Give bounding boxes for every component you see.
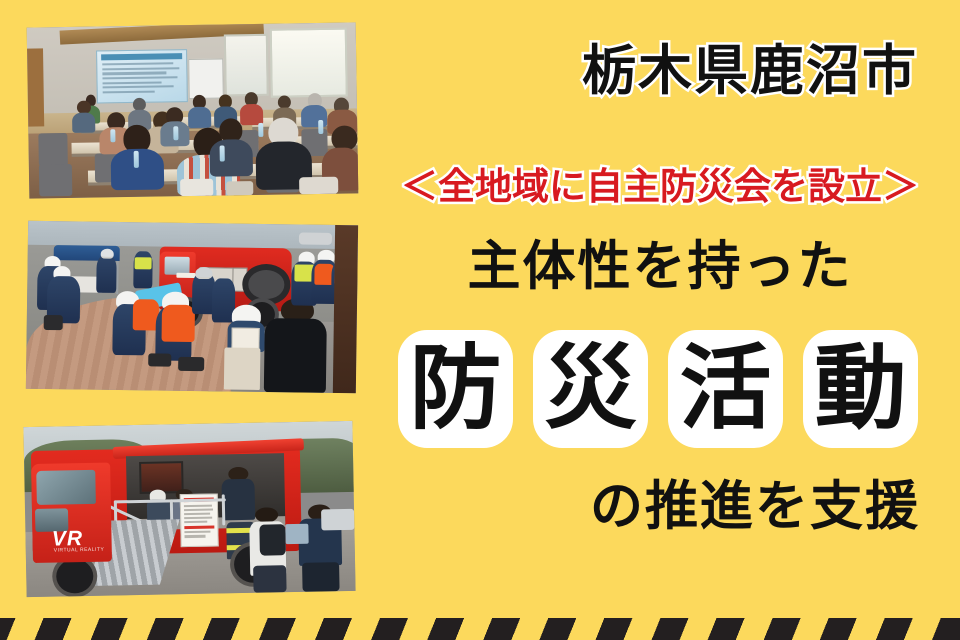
water-bottle xyxy=(173,126,178,140)
bay-monitor xyxy=(139,462,183,494)
poster-subhead xyxy=(184,526,214,529)
evacuee-pants xyxy=(224,348,261,391)
keyword-box-bou: 防 xyxy=(398,330,513,448)
attendee-body xyxy=(209,139,252,177)
keyword-box-sai: 災 xyxy=(533,330,648,448)
window-right xyxy=(270,28,347,98)
drill-photo-scene xyxy=(26,221,358,394)
vr-truck-windshield xyxy=(36,470,96,505)
rescue-vest xyxy=(162,305,196,342)
water-bottle xyxy=(134,151,139,168)
cap xyxy=(100,249,113,260)
chair xyxy=(38,133,68,166)
lead-line: 主体性を持った xyxy=(400,240,920,293)
poster-line xyxy=(184,508,213,511)
boots xyxy=(148,353,171,367)
keyword-box-katsu: 活 xyxy=(668,330,783,448)
water-bottle xyxy=(111,129,116,143)
poster-line xyxy=(184,517,212,520)
paper-bag xyxy=(227,181,254,195)
hi-vis-vest xyxy=(135,257,152,269)
poster-line xyxy=(185,531,211,534)
photographer-pants xyxy=(253,565,286,593)
paper-bag xyxy=(299,177,339,195)
vr-truck-photo-scene: VR VIRTUAL REALITY xyxy=(23,421,355,597)
slide-line xyxy=(103,91,155,94)
parked-car xyxy=(298,233,331,245)
water-bottle xyxy=(219,146,224,161)
slide-line xyxy=(103,76,178,79)
slide-header xyxy=(101,53,183,60)
vr-logo-subtext: VIRTUAL REALITY xyxy=(54,546,105,553)
truck-lettering xyxy=(176,273,196,278)
vr-truck-photo: VR VIRTUAL REALITY xyxy=(23,421,355,597)
seminar-photo xyxy=(27,22,359,198)
poster-line xyxy=(184,521,207,523)
slide-line xyxy=(103,67,179,70)
building-pillar xyxy=(333,225,358,393)
tail-line: の推進を支援 xyxy=(420,480,928,533)
projection-screen xyxy=(96,49,188,104)
attendee-body xyxy=(240,104,263,125)
water-bottle xyxy=(259,123,264,137)
slide-line xyxy=(103,63,174,66)
drill-photo xyxy=(26,221,358,394)
slide-line xyxy=(103,81,162,84)
boots xyxy=(43,315,63,330)
poster-line xyxy=(184,504,212,507)
paper-bag xyxy=(180,179,213,197)
foreground-person-body xyxy=(263,318,327,393)
staff-uniform xyxy=(96,255,116,292)
subtitle-banner: ＜全地域に自主防災会を設立＞ xyxy=(380,168,940,205)
chair xyxy=(39,164,72,197)
attendee-body xyxy=(301,105,328,128)
parked-van xyxy=(321,509,354,530)
attendee-body xyxy=(188,107,211,128)
cap xyxy=(196,267,213,279)
poster-line xyxy=(184,513,209,516)
staff-body xyxy=(222,479,256,520)
visitor-pants xyxy=(302,562,339,592)
window-left xyxy=(224,34,268,97)
poster-canvas: VR VIRTUAL REALITY 栃木県鹿沼市 ＜全地域に自主防災会を設立＞… xyxy=(0,0,960,640)
whiteboard xyxy=(188,59,224,99)
seminar-photo-scene xyxy=(27,22,359,198)
equipment-box xyxy=(285,524,308,545)
city-title: 栃木県鹿沼市 xyxy=(560,44,940,98)
keyword-box-dou: 動 xyxy=(803,330,918,448)
hazard-stripe xyxy=(0,618,960,640)
slide-line xyxy=(103,86,174,89)
slide-line xyxy=(103,72,167,75)
boots xyxy=(178,357,205,371)
poster-line xyxy=(185,535,206,537)
door-frame xyxy=(27,48,45,127)
keyword-box-group: 防 災 活 動 xyxy=(398,330,918,448)
water-bottle xyxy=(318,120,323,134)
attendee-body xyxy=(72,112,95,133)
name-bib xyxy=(231,328,260,351)
backpack xyxy=(259,524,286,555)
